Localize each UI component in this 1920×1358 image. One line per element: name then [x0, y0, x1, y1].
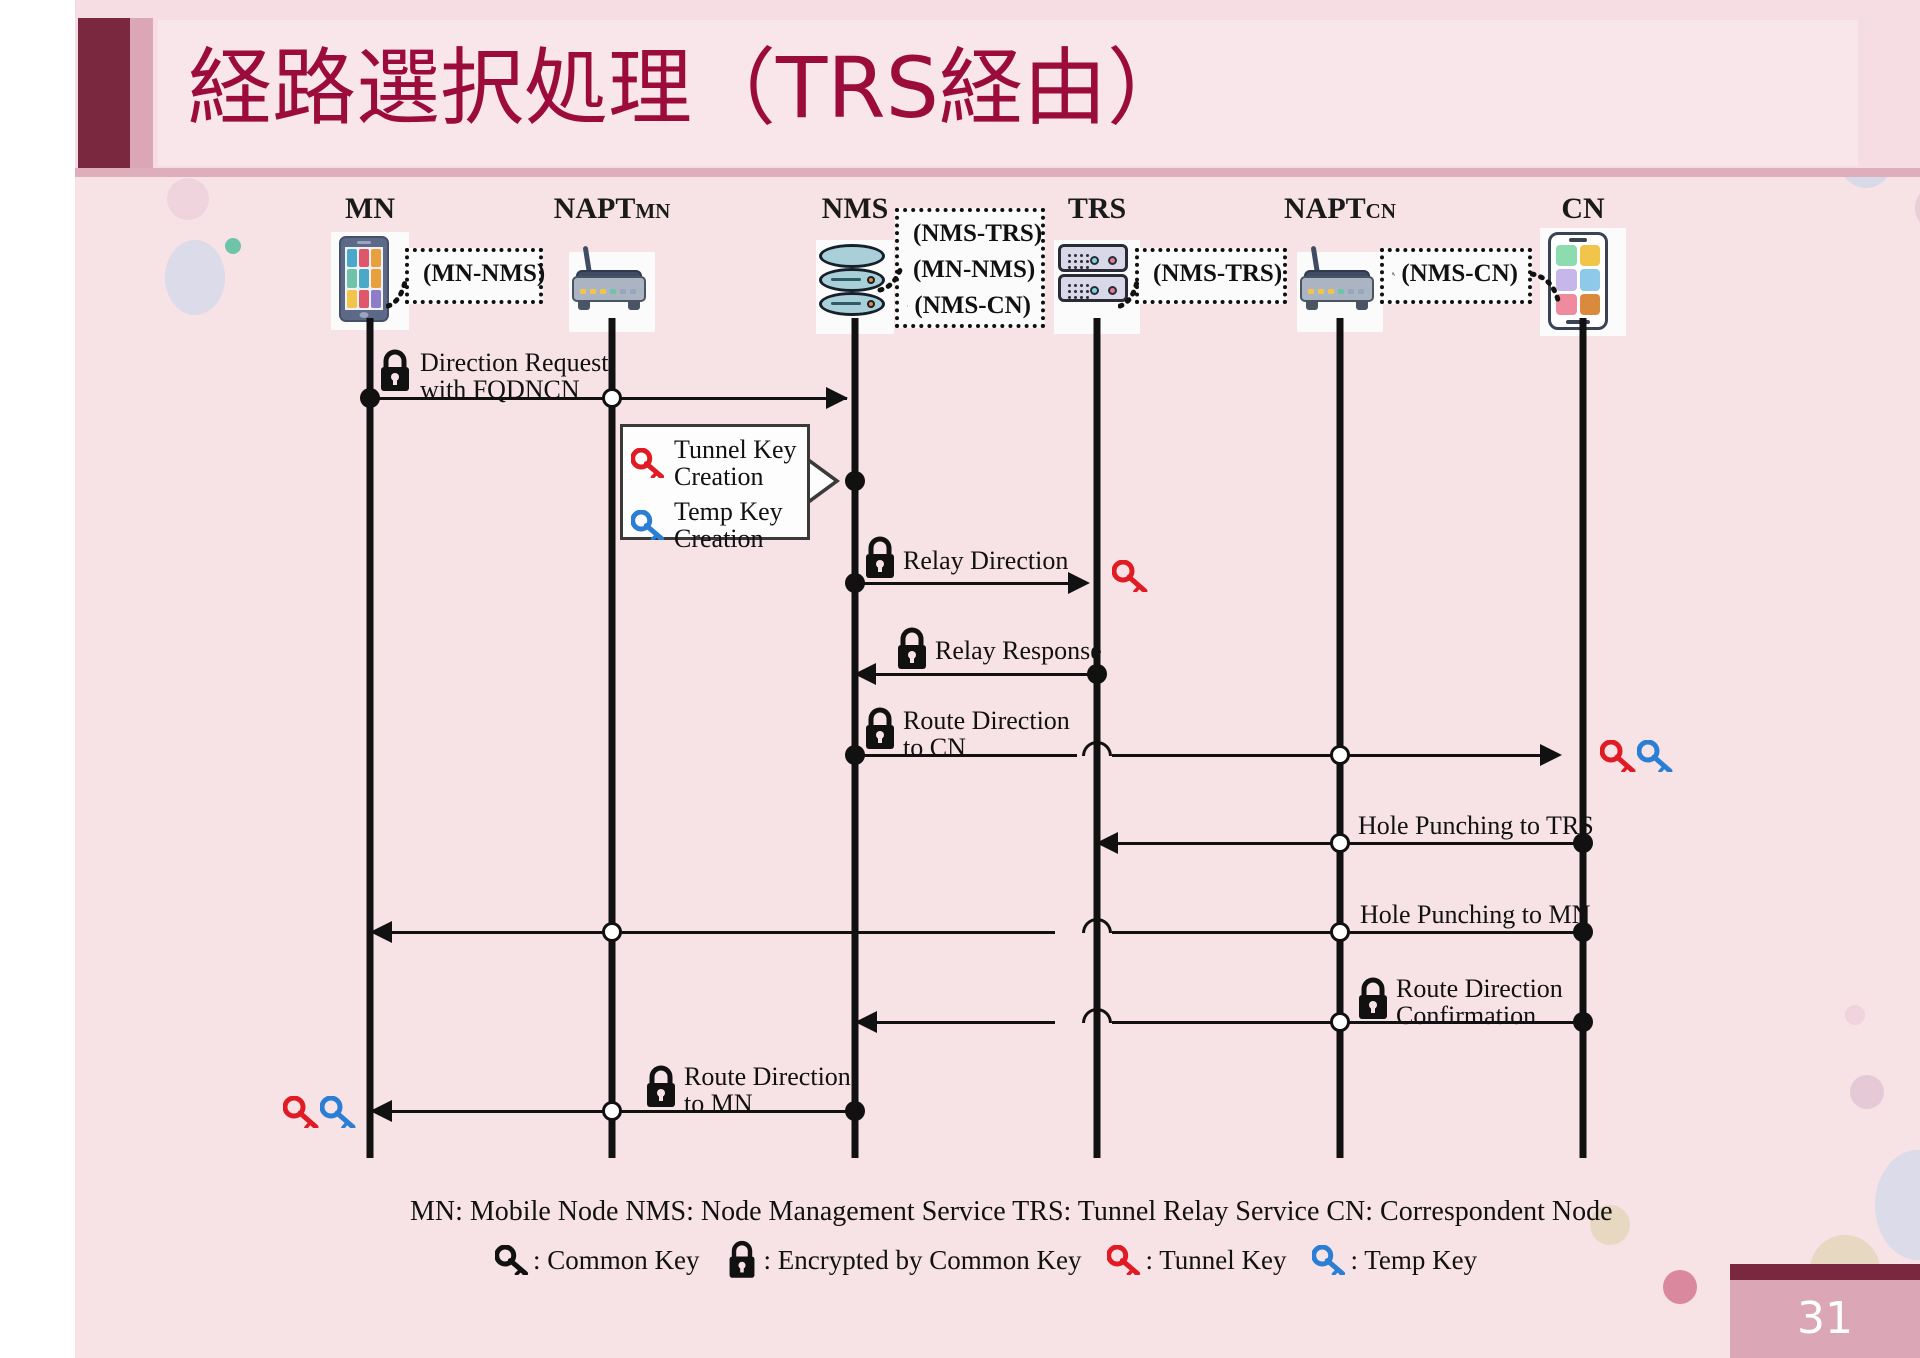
led: [630, 289, 636, 294]
arrow-head-m7: [855, 1011, 877, 1033]
legend-label: : Temp Key: [1350, 1245, 1477, 1276]
callout-text: Temp Key Creation: [674, 498, 783, 552]
abbreviation-legend: MN: Mobile Node NMS: Node Management Ser…: [410, 1196, 1613, 1228]
legend-label: : Common Key: [533, 1245, 700, 1276]
led: [1328, 289, 1334, 294]
slide-root: 経路選択処理（TRS経由） MN NAPTMN NMS TRS NAPTCN C…: [0, 0, 1920, 1358]
message-pass-dot: [1330, 833, 1350, 853]
keybox-nms: (NMS-TRS) (MN-NMS) (NMS-CN): [895, 208, 1045, 328]
callout-row: Temp Key Creation: [631, 498, 799, 552]
message-line-m6-a: [392, 931, 1055, 934]
app-tile: [359, 290, 369, 308]
arrow-head-m3: [854, 663, 876, 685]
app-tile: [347, 269, 357, 287]
router-foot: [1356, 302, 1368, 310]
app-tile: [371, 249, 381, 267]
router-foot: [628, 302, 640, 310]
symbol-legend: : Common Key : Encrypted by Common Key :…: [495, 1240, 1477, 1280]
temp-key-icon: [631, 510, 665, 540]
keybox-row: (MN-NMS): [907, 252, 1031, 288]
arrow-head-m5: [1096, 832, 1118, 854]
column-header-trs: TRS: [1068, 192, 1126, 226]
legend-item-common-key: : Common Key: [495, 1245, 726, 1276]
column-label: NAPT: [1284, 192, 1366, 225]
legend-item-tunnel-key: : Tunnel Key: [1107, 1245, 1312, 1276]
arrow-head-m1: [826, 387, 848, 409]
server-unit: [1058, 244, 1128, 272]
led: [1318, 289, 1324, 294]
message-label-m5: Hole Punching to TRS: [1358, 812, 1594, 839]
led: [1358, 289, 1364, 294]
column-header-napt-cn: NAPTCN: [1284, 192, 1396, 226]
keybox-leader: [1530, 264, 1564, 308]
tunnel-key-icon: [631, 448, 665, 478]
message-pass-dot: [602, 922, 622, 942]
column-label: TRS: [1068, 192, 1126, 225]
server-led: [1108, 256, 1117, 265]
column-label: NMS: [822, 192, 889, 225]
message-label-m6: Hole Punching to MN: [1360, 901, 1590, 928]
app-tile: [371, 269, 381, 287]
arrow-head-m6: [370, 921, 392, 943]
lifeline-napt-cn: [1337, 318, 1344, 1158]
message-label-m4: Route Direction to CN: [903, 707, 1070, 761]
legend-label: : Tunnel Key: [1145, 1245, 1286, 1276]
app-tile: [359, 269, 369, 287]
message-origin-dot: [1087, 664, 1107, 684]
message-label-m7: Route Direction Confirmation: [1396, 975, 1563, 1029]
tunnel-key-icon: [1107, 1245, 1141, 1275]
server-led: [1090, 256, 1099, 265]
common-key-icon: [907, 293, 908, 319]
mobile-phone-icon: [339, 236, 389, 322]
keybox-cn: (NMS-CN): [1380, 248, 1532, 304]
legend-item-encrypted: : Encrypted by Common Key: [726, 1240, 1108, 1280]
common-key-icon: [1392, 261, 1395, 287]
router-icon: [572, 262, 646, 310]
column-sublabel: MN: [635, 199, 670, 223]
router-leds: [1308, 289, 1364, 294]
app-tile: [371, 290, 381, 308]
callout-text: Tunnel Key Creation: [674, 436, 797, 490]
message-label-m8: Route Direction to MN: [684, 1063, 851, 1117]
server-led: [1108, 286, 1117, 295]
router-icon: [1300, 262, 1374, 310]
column-header-napt-mn: NAPTMN: [554, 192, 671, 226]
keybox-row: (NMS-CN): [1392, 256, 1518, 292]
router-foot: [578, 302, 590, 310]
sequence-diagram: MN NAPTMN NMS TRS NAPTCN CN: [0, 0, 1920, 1358]
line-hop-crossing: [1082, 741, 1112, 756]
keybox-label: (NMS-CN): [1401, 260, 1518, 288]
encrypted-lock-icon: [894, 627, 930, 671]
led: [1338, 289, 1344, 294]
column-label: NAPT: [554, 192, 636, 225]
common-key-icon: [495, 1245, 529, 1275]
app-tile: [1580, 269, 1601, 290]
led: [620, 289, 626, 294]
app-tile: [1580, 294, 1601, 315]
message-line-m2: [855, 582, 1068, 585]
line-hop-crossing: [1082, 918, 1112, 933]
message-pass-dot: [602, 1101, 622, 1121]
app-tile: [1580, 245, 1601, 266]
arrow-head-m4: [1540, 744, 1562, 766]
keybox-row: (NMS-CN): [907, 288, 1031, 324]
keybox-label: (MN-NMS): [423, 260, 545, 288]
key-creation-callout: Tunnel Key Creation Temp Key Creation: [620, 424, 810, 540]
lifeline-trs: [1094, 318, 1101, 1158]
led: [580, 289, 586, 294]
line-hop-crossing: [1082, 1008, 1112, 1023]
encrypted-lock-icon: [377, 349, 413, 393]
legend-label: : Encrypted by Common Key: [764, 1245, 1082, 1276]
arrow-head-m8: [370, 1100, 392, 1122]
message-label-m2: Relay Direction: [903, 547, 1068, 574]
encrypted-lock-icon: [1355, 977, 1391, 1021]
lifeline-napt-mn: [609, 318, 616, 1158]
encrypted-lock-icon: [862, 707, 898, 751]
message-line-m3: [876, 673, 1098, 676]
temp-key-icon: [1312, 1245, 1346, 1275]
tunnel-key-icon: [1600, 740, 1636, 772]
keybox-row: (MN-NMS): [417, 256, 529, 292]
phone-notch: [1569, 238, 1587, 242]
keybox-label: (MN-NMS): [913, 256, 1035, 284]
keybox-row: (NMS-TRS): [1147, 256, 1273, 292]
tunnel-key-icon: [1112, 560, 1148, 592]
temp-key-icon: [1637, 740, 1673, 772]
keybox-label: (NMS-TRS): [913, 220, 1042, 248]
app-tile: [347, 290, 357, 308]
encrypted-lock-icon: [726, 1240, 758, 1280]
db-line: [831, 278, 861, 281]
message-origin-dot: [1573, 1012, 1593, 1032]
temp-key-icon: [320, 1096, 356, 1128]
column-label: MN: [345, 192, 395, 225]
message-line-m7-a: [877, 1021, 1055, 1024]
message-pass-dot: [1330, 1012, 1350, 1032]
led: [610, 289, 616, 294]
server-vents: [1068, 284, 1090, 300]
keybox-leader: [876, 252, 910, 296]
encrypted-lock-icon: [862, 536, 898, 580]
lifeline-mn: [367, 318, 374, 1158]
page-number: 31: [1730, 1280, 1920, 1358]
keybox-row: (NMS-TRS): [907, 216, 1031, 252]
message-label-m3: Relay Response: [935, 637, 1102, 664]
legend-item-temp-key: : Temp Key: [1312, 1245, 1477, 1276]
key-creation-dot: [845, 471, 865, 491]
router-leds: [580, 289, 636, 294]
server-vents: [1068, 254, 1090, 270]
column-label: CN: [1561, 192, 1604, 225]
keybox-label: (NMS-TRS): [1153, 260, 1282, 288]
db-line: [831, 302, 861, 305]
keybox-leader: [1118, 272, 1148, 312]
keybox-leader: [386, 272, 416, 312]
phone-screen: [345, 247, 383, 310]
lifeline-cn: [1580, 318, 1587, 1158]
message-pass-dot: [1330, 745, 1350, 765]
callout-row: Tunnel Key Creation: [631, 436, 799, 490]
led: [600, 289, 606, 294]
server-led: [1090, 286, 1099, 295]
led: [590, 289, 596, 294]
db-indicator: [867, 276, 875, 284]
message-pass-dot: [1330, 922, 1350, 942]
keybox-label: (NMS-CN): [914, 292, 1031, 320]
keybox-mn: (MN-NMS): [405, 248, 543, 304]
app-tile: [347, 249, 357, 267]
encrypted-lock-icon: [643, 1065, 679, 1109]
keybox-trs: (NMS-TRS): [1135, 248, 1287, 304]
message-line-m5: [1118, 842, 1583, 845]
router-foot: [1306, 302, 1318, 310]
led: [1308, 289, 1314, 294]
db-indicator: [867, 300, 875, 308]
column-header-cn: CN: [1561, 192, 1604, 226]
phone-notch: [357, 241, 371, 244]
app-tile: [359, 249, 369, 267]
column-header-nms: NMS: [822, 192, 889, 226]
column-sublabel: CN: [1366, 199, 1396, 223]
message-label-m1: Direction Request with FQDNCN: [420, 349, 608, 403]
page-number-bar: [1730, 1264, 1920, 1280]
arrow-head-m2: [1068, 572, 1090, 594]
led: [1348, 289, 1354, 294]
column-header-mn: MN: [345, 192, 395, 226]
tunnel-key-icon: [283, 1096, 319, 1128]
